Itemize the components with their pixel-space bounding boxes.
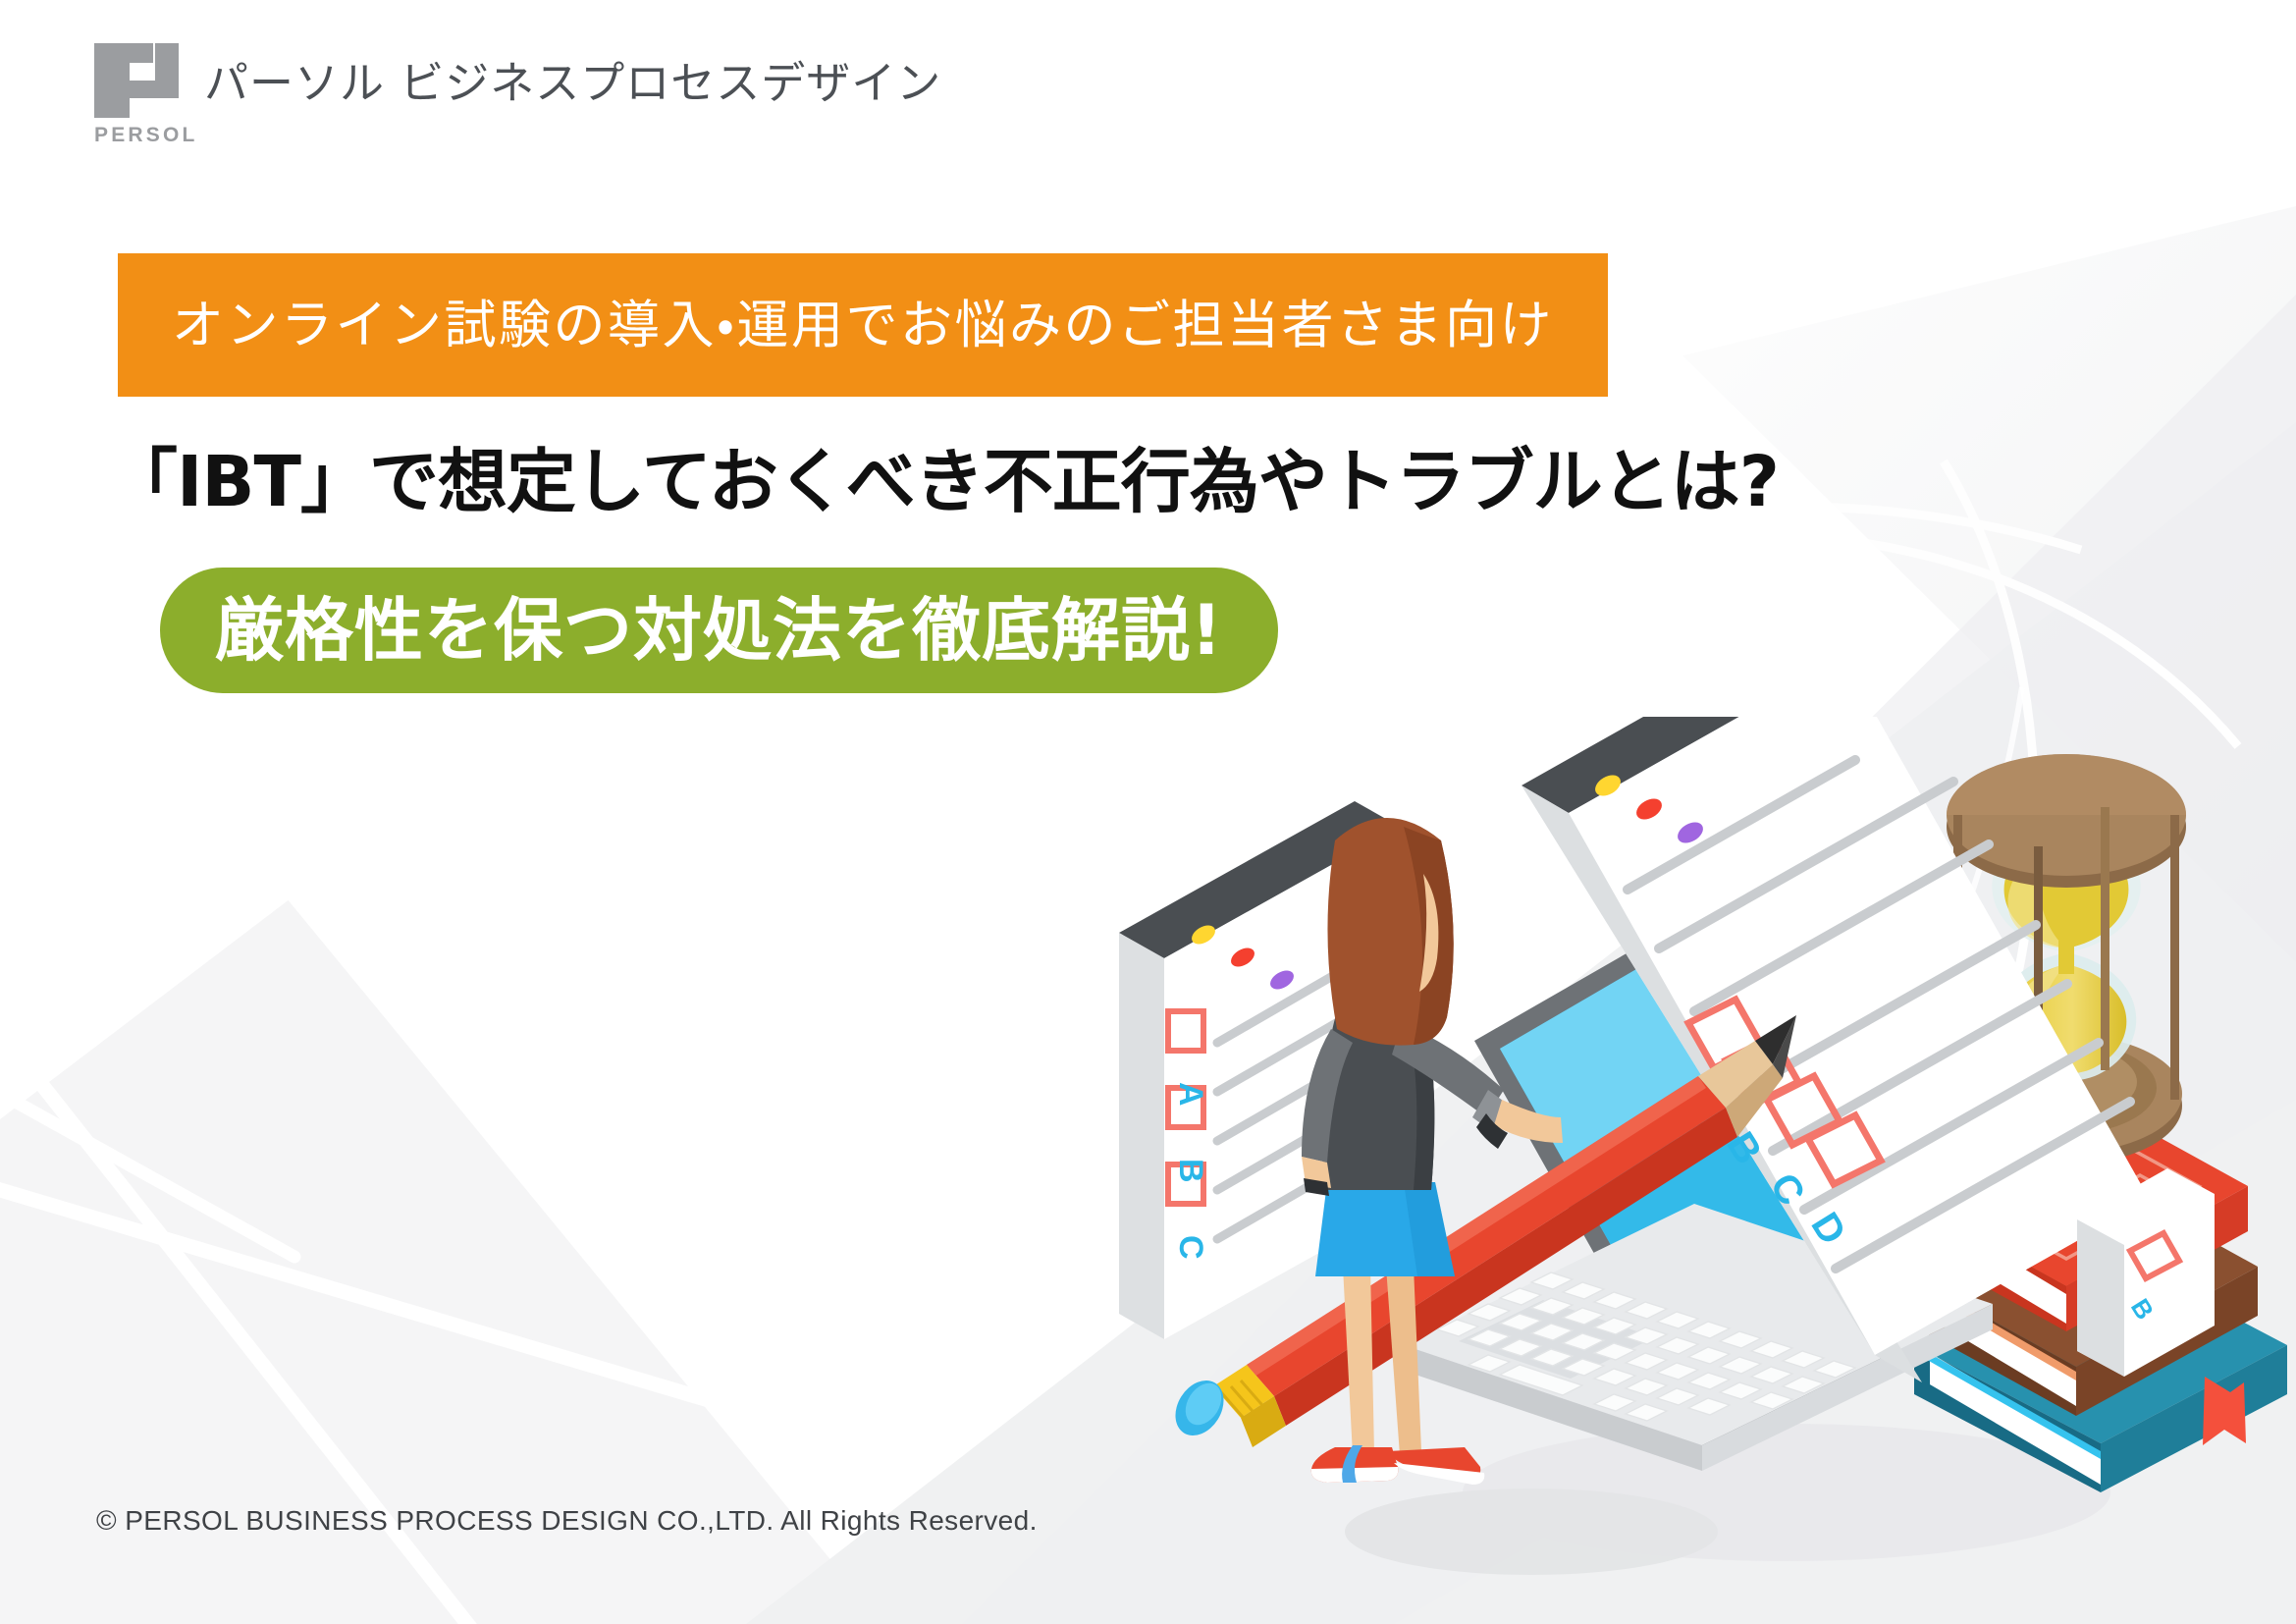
shoe-right xyxy=(1388,1447,1484,1485)
shoe-left xyxy=(1311,1445,1398,1483)
brand-name: パーソル ビジネスプロセスデザイン xyxy=(204,61,941,105)
exam-illustration: A B C xyxy=(1109,717,2296,1600)
eyebrow-label: オンライン試験の導入・運用でお悩みのご担当者さま向け xyxy=(172,299,1554,352)
slide-canvas: PERSOL パーソル ビジネスプロセスデザイン オンライン試験の導入・運用でお… xyxy=(0,0,2296,1624)
persol-p-mark-icon xyxy=(94,43,179,118)
svg-text:C: C xyxy=(1172,1235,1209,1260)
subtitle-pill: 厳格性を保つ対処法を徹底解説! xyxy=(160,568,1278,693)
header: PERSOL パーソル ビジネスプロセスデザイン xyxy=(94,43,941,149)
eyebrow-banner: オンライン試験の導入・運用でお悩みのご担当者さま向け xyxy=(118,253,1608,397)
subtitle-pill-label: 厳格性を保つ対処法を徹底解説! xyxy=(215,596,1223,665)
page-title: 「IBT」で想定しておくべき不正行為やトラブルとは? xyxy=(108,444,1779,520)
svg-text:A: A xyxy=(1172,1082,1209,1107)
copyright-notice: © PERSOL BUSINESS PROCESS DESIGN CO.,LTD… xyxy=(96,1505,1038,1537)
persol-logo: PERSOL xyxy=(94,43,179,149)
svg-text:B: B xyxy=(1172,1159,1209,1183)
persol-wordmark: PERSOL xyxy=(94,125,198,145)
exam-illustration-svg: A B C xyxy=(1109,717,2296,1600)
